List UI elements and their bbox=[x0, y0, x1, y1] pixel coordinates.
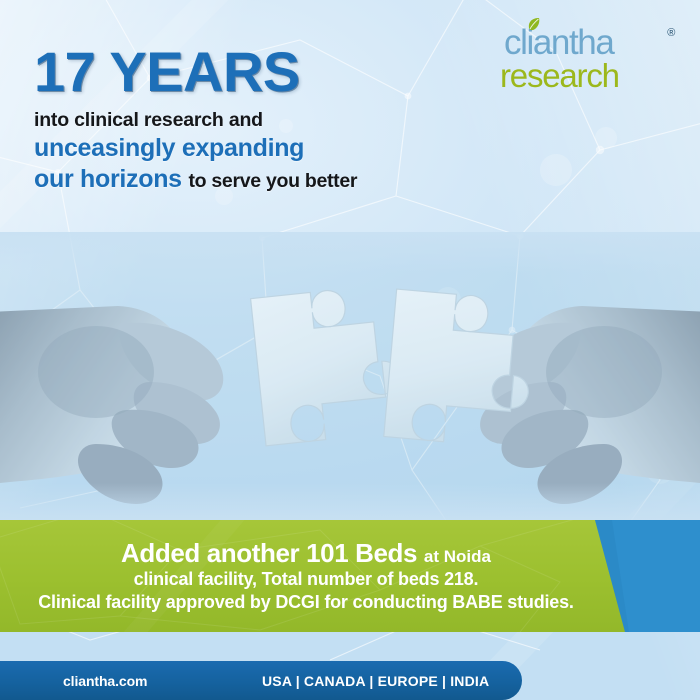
headline-block: 17 YEARS into clinical research and unce… bbox=[34, 44, 504, 196]
banner-line-2: clinical facility, Total number of beds … bbox=[134, 570, 479, 590]
headline-years: 17 YEARS bbox=[34, 44, 504, 100]
headline-line-2: unceasingly expanding bbox=[34, 133, 504, 165]
promotional-poster: 17 YEARS into clinical research and unce… bbox=[0, 0, 700, 700]
hands-puzzle-photo bbox=[0, 232, 700, 524]
banner-line-3: Clinical facility approved by DCGI for c… bbox=[38, 593, 573, 613]
logo-wordmark-bottom: research bbox=[500, 60, 672, 91]
announcement-banner: Added another 101 Beds at Noida clinical… bbox=[0, 520, 700, 632]
footer-bar: cliantha.com USA | CANADA | EUROPE | IND… bbox=[0, 661, 522, 700]
logo-text-cliantha: cliantha bbox=[504, 23, 613, 62]
headline-line-1: into clinical research and bbox=[34, 108, 504, 133]
leaf-icon bbox=[527, 17, 541, 32]
footer-website-link[interactable]: cliantha.com bbox=[63, 673, 147, 689]
banner-line-1-headline: Added another 101 Beds bbox=[121, 538, 417, 568]
registered-trademark-icon: ® bbox=[667, 28, 674, 39]
headline-line-3-emphasis: our horizons bbox=[34, 165, 182, 193]
headline-line-3: our horizons to serve you better bbox=[34, 164, 504, 196]
headline-line-3-tail: to serve you better bbox=[188, 170, 357, 192]
banner-text-block: Added another 101 Beds at Noida clinical… bbox=[0, 520, 612, 632]
logo-wordmark-top: cliantha ® bbox=[504, 26, 672, 59]
footer-regions: USA | CANADA | EUROPE | INDIA bbox=[262, 673, 489, 689]
cliantha-logo[interactable]: cliantha ® research bbox=[500, 26, 672, 92]
banner-line-1-location: at Noida bbox=[424, 547, 491, 566]
banner-line-1: Added another 101 Beds at Noida bbox=[121, 540, 491, 567]
